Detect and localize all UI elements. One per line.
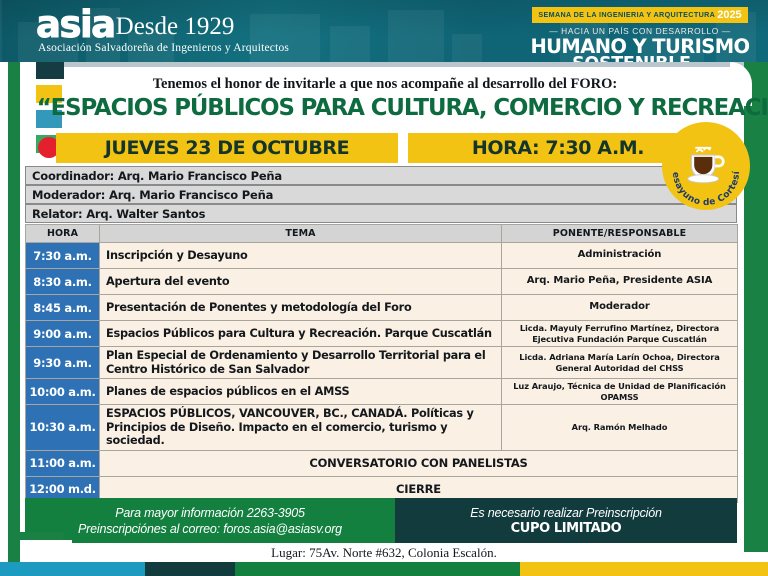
cell-hora: 11:00 a.m. (26, 450, 100, 476)
staff-row-moderador: Moderador: Arq. Mario Francisco Peña (25, 185, 737, 204)
cell-tema: Planes de espacios públicos en el AMSS (100, 379, 502, 405)
cell-ponente: Arq. Mario Peña, Presidente ASIA (502, 269, 738, 295)
event-date-label: JUEVES 23 DE OCTUBRE (105, 137, 349, 159)
cell-tema: Apertura del evento (100, 269, 502, 295)
bottom-strip-cyan (0, 562, 145, 576)
column-header-hora: HORA (26, 225, 100, 243)
footer-address: Lugar: 75Av. Norte #632, Colonia Escalón… (0, 545, 768, 561)
cell-hora: 9:30 a.m. (26, 347, 100, 379)
column-header-tema: TEMA (100, 225, 502, 243)
asia-logo: asia Desde 1929 Asociación Salvadoreña d… (36, 8, 289, 54)
cell-ponente: Luz Araujo, Técnica de Unidad de Planifi… (502, 379, 738, 405)
footer-cupo-limitado: CUPO LIMITADO (511, 521, 622, 536)
schedule-body: 7:30 a.m.Inscripción y DesayunoAdministr… (26, 243, 738, 503)
table-row: 8:45 a.m.Presentación de Ponentes y meto… (26, 295, 738, 321)
table-row: 7:30 a.m.Inscripción y DesayunoAdministr… (26, 243, 738, 269)
cell-ponente: Moderador (502, 295, 738, 321)
coffee-cup-icon (684, 146, 728, 186)
table-row: 10:30 a.m.ESPACIOS PÚBLICOS, VANCOUVER, … (26, 405, 738, 451)
cell-ponente: Licda. Mayuly Ferrufino Martínez, Direct… (502, 321, 738, 347)
table-row: 8:30 a.m.Apertura del eventoArq. Mario P… (26, 269, 738, 295)
staff-row-relator: Relator: Arq. Walter Santos (25, 204, 737, 223)
cell-hora: 8:45 a.m. (26, 295, 100, 321)
cell-tema: Inscripción y Desayuno (100, 243, 502, 269)
footer-preinscripcion-text: Es necesario realizar Preinscripción (470, 506, 662, 521)
table-row: 9:30 a.m.Plan Especial de Ordenamiento y… (26, 347, 738, 379)
courtesy-breakfast-badge: Desayuno de Cortesía (662, 122, 750, 210)
cell-ponente: Licda. Adriana María Larín Ochoa, Direct… (502, 347, 738, 379)
table-row: 10:00 a.m.Planes de espacios públicos en… (26, 379, 738, 405)
cell-tema: Espacios Públicos para Cultura y Recreac… (100, 321, 502, 347)
staff-label: Relator: Arq. Walter Santos (32, 207, 205, 221)
bottom-strip-green (235, 562, 520, 576)
logo-since-text: Desde 1929 (116, 13, 235, 41)
footer-contact-panel: Para mayor información 2263-3905 Preinsc… (25, 498, 395, 543)
footer-corner-mask (20, 540, 72, 562)
page-title: “ESPACIOS PÚBLICOS PARA CULTURA, COMERCI… (37, 93, 731, 121)
cell-ponente: Administración (502, 243, 738, 269)
logo-subtitle: Asociación Salvadoreña de Ingenieros y A… (38, 42, 289, 54)
cell-tema: ESPACIOS PÚBLICOS, VANCOUVER, BC., CANAD… (100, 405, 502, 451)
event-brand-block: SEMANA DE LA INGENIERIA Y ARQUITECTURA20… (524, 4, 756, 62)
brand-week-label: SEMANA DE LA INGENIERIA Y ARQUITECTURA (538, 10, 715, 19)
brand-year: 2025 (717, 9, 741, 21)
staff-row-coordinador: Coordinador: Arq. Mario Francisco Peña (25, 166, 737, 185)
cell-hora: 8:30 a.m. (26, 269, 100, 295)
logo-wordmark: asia (36, 8, 115, 41)
skyline-shape (388, 10, 444, 62)
footer-phone: Para mayor información 2263-3905 (115, 505, 305, 521)
event-date-banner: JUEVES 23 DE OCTUBRE (56, 133, 398, 163)
table-row: 11:00 a.m.CONVERSATORIO CON PANELISTAS (26, 450, 738, 476)
column-header-ponente: PONENTE/RESPONSABLE (502, 225, 738, 243)
bottom-strip-yellow (520, 562, 768, 576)
footer-email: Preinscripciónes al correo: foros.asia@a… (78, 521, 342, 537)
table-row: 9:00 a.m.Espacios Públicos para Cultura … (26, 321, 738, 347)
cell-hora: 10:30 a.m. (26, 405, 100, 451)
cell-tema: Presentación de Ponentes y metodología d… (100, 295, 502, 321)
cell-hora: 9:00 a.m. (26, 321, 100, 347)
footer-preinscripcion-panel: Es necesario realizar Preinscripción CUP… (395, 498, 737, 543)
staff-label: Moderador: Arq. Mario Francisco Peña (32, 188, 273, 202)
header-underline (64, 62, 768, 67)
brand-week-strip: SEMANA DE LA INGENIERIA Y ARQUITECTURA20… (532, 7, 747, 23)
cell-hora: 10:00 a.m. (26, 379, 100, 405)
left-green-bar (8, 62, 20, 552)
skyline-shape (330, 26, 370, 62)
cell-tema: Plan Especial de Ordenamiento y Desarrol… (100, 347, 502, 379)
schedule-table: HORA TEMA PONENTE/RESPONSABLE 7:30 a.m.I… (25, 224, 738, 503)
cell-ponente: Arq. Ramón Melhado (502, 405, 738, 451)
skyline-shape (452, 34, 482, 62)
cell-tema-full: CONVERSATORIO CON PANELISTAS (100, 450, 738, 476)
invitation-text: Tenemos el honor de invitarle a que nos … (60, 76, 710, 93)
table-header-row: HORA TEMA PONENTE/RESPONSABLE (26, 225, 738, 243)
cell-hora: 7:30 a.m. (26, 243, 100, 269)
header-banner: asia Desde 1929 Asociación Salvadoreña d… (0, 0, 768, 62)
event-hour-label: HORA: 7:30 A.M. (472, 137, 644, 159)
bottom-strip-dark (145, 562, 235, 576)
staff-label: Coordinador: Arq. Mario Francisco Peña (32, 169, 282, 183)
